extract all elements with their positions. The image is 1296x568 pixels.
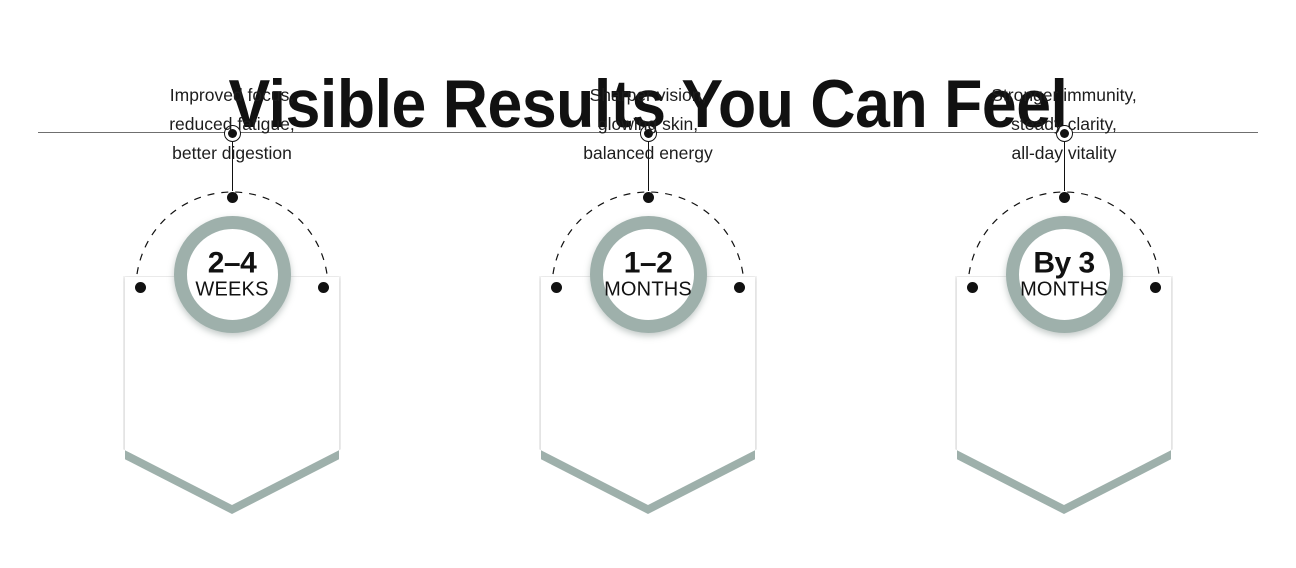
badge-value: 2–4 [157, 248, 307, 279]
benefit-line: steady clarity, [949, 110, 1179, 139]
badge-value: 1–2 [573, 248, 723, 279]
duration-badge[interactable]: By 3MONTHS [1006, 216, 1123, 333]
duration-badge[interactable]: 2–4WEEKS [174, 216, 291, 333]
badge-unit: MONTHS [573, 279, 723, 301]
timeline-cards: 2–4WEEKSImproved focus,reduced fatigue,b… [0, 0, 1296, 568]
timeline-card[interactable]: 1–2MONTHSSharper vision,glowing skin,bal… [518, 0, 778, 568]
arc-apex-dot-icon [1059, 192, 1070, 203]
arc-apex-dot-icon [227, 192, 238, 203]
benefit-line: glowing skin, [533, 110, 763, 139]
benefit-line: balanced energy [533, 139, 763, 168]
badge-unit: MONTHS [989, 279, 1139, 301]
benefit-text: Sharper vision,glowing skin,balanced ene… [533, 81, 763, 168]
benefit-text: Stronger immunity,steady clarity,all-day… [949, 81, 1179, 168]
duration-badge[interactable]: 1–2MONTHS [590, 216, 707, 333]
benefit-line: Improved focus, [117, 81, 347, 110]
hanger-dot-left-icon [967, 282, 978, 293]
benefit-line: better digestion [117, 139, 347, 168]
arc-apex-dot-icon [643, 192, 654, 203]
benefit-text: Improved focus,reduced fatigue,better di… [117, 81, 347, 168]
badge-value: By 3 [989, 248, 1139, 279]
hanger-dot-right-icon [734, 282, 745, 293]
hanger-dot-right-icon [318, 282, 329, 293]
timeline-card[interactable]: 2–4WEEKSImproved focus,reduced fatigue,b… [102, 0, 362, 568]
benefit-line: all-day vitality [949, 139, 1179, 168]
hanger-dot-left-icon [135, 282, 146, 293]
benefit-line: reduced fatigue, [117, 110, 347, 139]
badge-unit: WEEKS [157, 279, 307, 301]
infographic-root: { "title": "Visible Results You Can Feel… [0, 0, 1296, 568]
benefit-line: Sharper vision, [533, 81, 763, 110]
hanger-dot-left-icon [551, 282, 562, 293]
hanger-dot-right-icon [1150, 282, 1161, 293]
benefit-line: Stronger immunity, [949, 81, 1179, 110]
timeline-card[interactable]: By 3MONTHSStronger immunity,steady clari… [934, 0, 1194, 568]
